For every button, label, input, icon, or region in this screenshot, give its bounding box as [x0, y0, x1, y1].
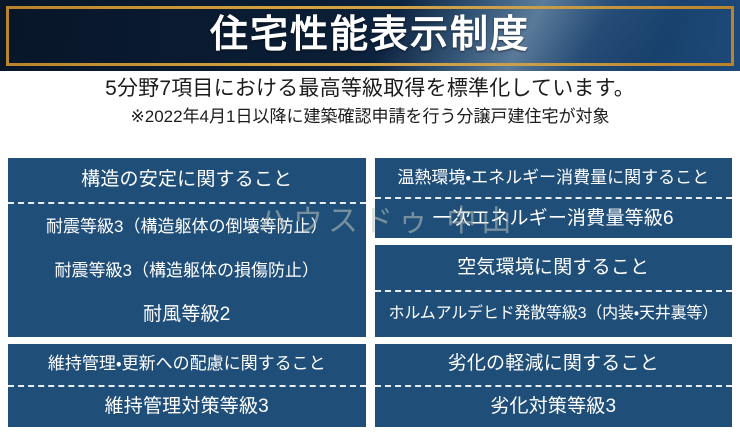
table-row: 一次エネルギー消費量等級6: [375, 199, 733, 238]
category-header: 維持管理・更新への配慮に関すること: [8, 344, 366, 387]
category-block-degradation: 劣化の軽減に関すること 劣化対策等級3: [375, 344, 733, 427]
subtitle-note: ※2022年4月1日以降に建築確認申請を行う分譲戸建住宅が対象: [0, 104, 740, 130]
title-banner-frame: 住宅性能表示制度: [6, 6, 734, 66]
subtitle-block: 5分野7項目における最高等級取得を標準化しています。 ※2022年4月1日以降に…: [0, 74, 740, 130]
performance-table: 構造の安定に関すること 耐震等級3（構造躯体の倒壊等防止） 耐震等級3（構造躯体…: [8, 158, 732, 427]
table-row: ホルムアルデヒド発散等級3（内装・天井裏等）: [375, 292, 733, 337]
table-row: 耐風等級2: [8, 293, 366, 337]
title-banner: 住宅性能表示制度: [0, 0, 740, 71]
page-title: 住宅性能表示制度: [210, 16, 530, 54]
category-header: 温熱環境・エネルギー消費量に関すること: [375, 158, 733, 199]
category-block-maintenance: 維持管理・更新への配慮に関すること 維持管理対策等級3: [8, 344, 366, 427]
table-column-right: 温熱環境・エネルギー消費量に関すること 一次エネルギー消費量等級6 空気環境に関…: [375, 158, 733, 427]
bottom-spacer: [0, 428, 740, 434]
category-block-thermal: 温熱環境・エネルギー消費量に関すること 一次エネルギー消費量等級6: [375, 158, 733, 238]
category-block-air: 空気環境に関すること ホルムアルデヒド発散等級3（内装・天井裏等）: [375, 245, 733, 337]
subtitle-primary: 5分野7項目における最高等級取得を標準化しています。: [0, 74, 740, 104]
category-header: 空気環境に関すること: [375, 245, 733, 292]
category-header: 劣化の軽減に関すること: [375, 344, 733, 387]
table-row: 維持管理対策等級3: [8, 387, 366, 428]
table-column-left: 構造の安定に関すること 耐震等級3（構造躯体の倒壊等防止） 耐震等級3（構造躯体…: [8, 158, 366, 427]
table-row: 耐震等級3（構造躯体の損傷防止）: [8, 249, 366, 293]
table-row: 耐震等級3（構造躯体の倒壊等防止）: [8, 204, 366, 248]
table-row: 劣化対策等級3: [375, 387, 733, 428]
category-block-structure: 構造の安定に関すること 耐震等級3（構造躯体の倒壊等防止） 耐震等級3（構造躯体…: [8, 158, 366, 337]
category-header: 構造の安定に関すること: [8, 158, 366, 204]
